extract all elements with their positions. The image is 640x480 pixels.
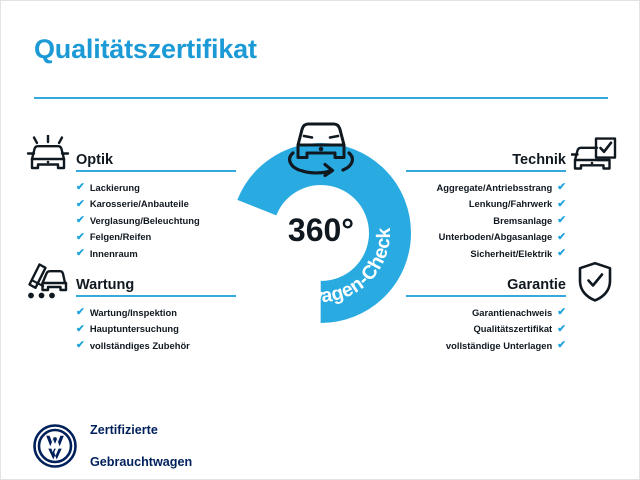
section-divider-technik	[406, 170, 566, 172]
title-divider	[34, 97, 608, 99]
list-item: Garantienachweis ✔	[406, 304, 566, 321]
list-item: ✔ Wartung/Inspektion	[76, 304, 190, 321]
list-item-label: Wartung/Inspektion	[90, 307, 177, 318]
certificate-page: Qualitätszertifikat Optik ✔ Lackierung ✔…	[0, 0, 640, 480]
list-item: ✔ Karosserie/Anbauteile	[76, 196, 200, 213]
check-icon: ✔	[557, 215, 566, 226]
list-item-label: Sicherheit/Elektrik	[470, 248, 552, 259]
section-technik: Technik Aggregate/Antriebsstrang ✔ Lenku…	[406, 141, 566, 171]
list-item-label: vollständiges Zubehör	[90, 340, 190, 351]
list-item-label: Lenkung/Fahrwerk	[469, 198, 552, 209]
page-title: Qualitätszertifikat	[34, 34, 257, 65]
car-checkbox-icon	[571, 137, 617, 182]
check-icon: ✔	[557, 307, 566, 318]
check-icon: ✔	[76, 340, 85, 351]
pen-car-service-icon	[25, 260, 71, 307]
list-item-label: Bremsanlage	[493, 215, 552, 226]
check-icon: ✔	[557, 340, 566, 351]
vw-logo-lockup: Zertifizierte Gebrauchtwagen	[33, 406, 192, 480]
list-item: vollständige Unterlagen ✔	[406, 337, 566, 354]
car-rotate-icon	[271, 114, 371, 180]
check-icon: ✔	[76, 248, 85, 259]
section-list-garantie: Garantienachweis ✔ Qualitätszertifikat ✔…	[406, 304, 566, 354]
badge-360-gebrauchtwagen-check: Gebrauchtwagen-Check 360°	[230, 142, 412, 324]
check-icon: ✔	[76, 199, 85, 210]
list-item: Lenkung/Fahrwerk ✔	[406, 196, 566, 213]
shield-check-icon	[577, 261, 613, 308]
section-title-optik: Optik	[76, 152, 113, 168]
list-item-label: Garantienachweis	[472, 307, 552, 318]
list-item: ✔ Lackierung	[76, 179, 200, 196]
vw-logo-text: Zertifizierte Gebrauchtwagen	[90, 406, 192, 480]
list-item: Sicherheit/Elektrik ✔	[406, 245, 566, 262]
list-item: ✔ Innenraum	[76, 245, 200, 262]
list-item-label: Karosserie/Anbauteile	[90, 198, 189, 209]
car-shine-icon	[25, 135, 71, 182]
vw-logo-line1: Zertifizierte	[90, 422, 192, 438]
list-item: Qualitätszertifikat ✔	[406, 321, 566, 338]
section-list-optik: ✔ Lackierung ✔ Karosserie/Anbauteile ✔ V…	[76, 179, 200, 262]
section-wartung: Wartung ✔ Wartung/Inspektion ✔ Hauptunte…	[76, 266, 236, 296]
list-item: Aggregate/Antriebsstrang ✔	[406, 179, 566, 196]
check-icon: ✔	[557, 248, 566, 259]
list-item: Unterboden/Abgasanlage ✔	[406, 229, 566, 246]
section-garantie: Garantie Garantienachweis ✔ Qualitätszer…	[406, 266, 566, 296]
check-icon: ✔	[76, 324, 85, 335]
section-divider-garantie	[406, 295, 566, 297]
vw-logo-line2: Gebrauchtwagen	[90, 454, 192, 470]
section-divider-optik	[76, 170, 236, 172]
check-icon: ✔	[76, 182, 85, 193]
list-item-label: Lackierung	[90, 182, 140, 193]
list-item-label: vollständige Unterlagen	[446, 340, 552, 351]
check-icon: ✔	[557, 232, 566, 243]
check-icon: ✔	[76, 215, 85, 226]
list-item-label: Hauptuntersuchung	[90, 323, 179, 334]
badge-degree-label: 360°	[230, 212, 412, 249]
list-item-label: Felgen/Reifen	[90, 231, 151, 242]
check-icon: ✔	[76, 307, 85, 318]
section-title-technik: Technik	[512, 152, 566, 168]
section-title-garantie: Garantie	[507, 277, 566, 293]
section-optik: Optik ✔ Lackierung ✔ Karosserie/Anbautei…	[76, 141, 236, 171]
section-list-technik: Aggregate/Antriebsstrang ✔ Lenkung/Fahrw…	[406, 179, 566, 262]
section-title-wartung: Wartung	[76, 277, 134, 293]
list-item-label: Verglasung/Beleuchtung	[90, 215, 200, 226]
list-item: ✔ Verglasung/Beleuchtung	[76, 212, 200, 229]
section-list-wartung: ✔ Wartung/Inspektion ✔ Hauptuntersuchung…	[76, 304, 190, 354]
list-item: ✔ Hauptuntersuchung	[76, 321, 190, 338]
list-item-label: Aggregate/Antriebsstrang	[437, 182, 553, 193]
list-item-label: Innenraum	[90, 248, 138, 259]
list-item: ✔ vollständiges Zubehör	[76, 337, 190, 354]
list-item-label: Qualitätszertifikat	[474, 323, 553, 334]
list-item: ✔ Felgen/Reifen	[76, 229, 200, 246]
section-divider-wartung	[76, 295, 236, 297]
vw-logo	[33, 424, 77, 468]
list-item-label: Unterboden/Abgasanlage	[439, 231, 553, 242]
check-icon: ✔	[557, 199, 566, 210]
check-icon: ✔	[557, 324, 566, 335]
check-icon: ✔	[76, 232, 85, 243]
check-icon: ✔	[557, 182, 566, 193]
list-item: Bremsanlage ✔	[406, 212, 566, 229]
